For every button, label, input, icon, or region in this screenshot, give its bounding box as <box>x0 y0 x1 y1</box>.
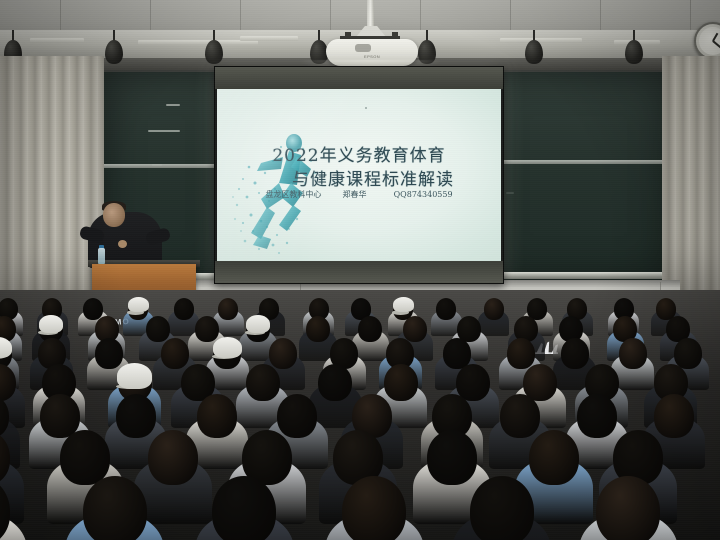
audience-head <box>197 394 237 438</box>
slide-organization: 盘龙区教科中心 <box>265 189 321 200</box>
audience-head <box>596 476 660 540</box>
ceiling-tile-seam <box>240 0 241 34</box>
ceiling-tile-seam <box>420 0 421 34</box>
presentation-slide: 2022年义务教育体育 与健康课程标准解读 盘龙区教科中心 郑春华 QQ8743… <box>217 89 501 261</box>
audience-head <box>269 338 297 369</box>
baseball-cap <box>246 315 271 333</box>
ceiling-tile-seam <box>600 0 601 34</box>
slide-presenter: 郑春华 <box>343 189 367 200</box>
audience-head <box>529 430 579 485</box>
baseball-cap <box>39 315 64 333</box>
audience-head <box>342 476 406 540</box>
projection-screen: 2022年义务教育体育 与健康课程标准解读 盘龙区教科中心 郑春华 QQ8743… <box>214 66 504 284</box>
audience-head <box>427 430 477 485</box>
curtain-right <box>662 56 720 306</box>
audience-head <box>83 476 147 540</box>
audience-head <box>654 394 694 438</box>
slide-title-line2: 与健康课程标准解读 <box>231 165 501 190</box>
audience-head <box>148 430 198 485</box>
baseball-cap <box>213 337 242 358</box>
screen-bottom-bar <box>215 261 503 283</box>
audience-head <box>484 298 504 320</box>
projector-lens <box>355 44 371 52</box>
ceiling-tile-seam <box>330 0 331 34</box>
audience-head <box>403 316 427 342</box>
presenter-head <box>103 203 125 227</box>
audience-head <box>161 338 189 369</box>
ceiling-tile-seam <box>60 0 61 34</box>
audience-head <box>358 316 382 342</box>
audience-head <box>95 338 123 369</box>
audience-head <box>306 316 330 342</box>
audience-head <box>212 476 276 540</box>
ceiling-tile-seam <box>150 0 151 34</box>
presenter-hand <box>118 240 127 248</box>
audience-head <box>674 338 702 369</box>
audience-head <box>384 364 418 401</box>
screen-top-bar <box>215 67 503 89</box>
audience-head <box>174 298 194 320</box>
ceiling-tile-seam <box>510 0 511 34</box>
baseball-cap <box>128 297 149 312</box>
audience-head <box>318 364 352 401</box>
audience-head <box>577 394 617 438</box>
chalkboard-right <box>486 72 671 280</box>
audience-head <box>277 394 317 438</box>
baseball-cap <box>393 297 414 312</box>
audience-head <box>619 338 647 369</box>
projector-brand-label: EPSON <box>364 54 380 59</box>
water-bottle <box>98 248 105 264</box>
slide-subtitle-block: 盘龙区教科中心 郑春华 QQ874340559 <box>217 189 501 200</box>
audience-head <box>146 316 170 342</box>
audience-head <box>246 364 280 401</box>
audience-head <box>470 476 534 540</box>
curtain-left <box>0 56 104 312</box>
clock-face <box>699 27 720 55</box>
baseball-cap <box>117 363 152 389</box>
audience-head <box>561 338 589 369</box>
audience-head <box>436 298 456 320</box>
audience-head <box>500 394 540 438</box>
ceiling <box>0 0 720 34</box>
audience <box>0 290 720 540</box>
ceiling-tile-seam <box>690 0 691 34</box>
slide-dot <box>365 107 367 109</box>
audience-head <box>218 298 238 320</box>
projector-pole <box>367 0 374 30</box>
lecture-hall-photo: EPSON <box>0 0 720 540</box>
audience-head <box>195 316 219 342</box>
slide-title-line1: 2022年义务教育体育 <box>217 141 501 166</box>
audience-head <box>507 338 535 369</box>
slide-contact: QQ874340559 <box>394 190 453 199</box>
audience-head <box>60 430 110 485</box>
audience-head <box>116 394 156 438</box>
